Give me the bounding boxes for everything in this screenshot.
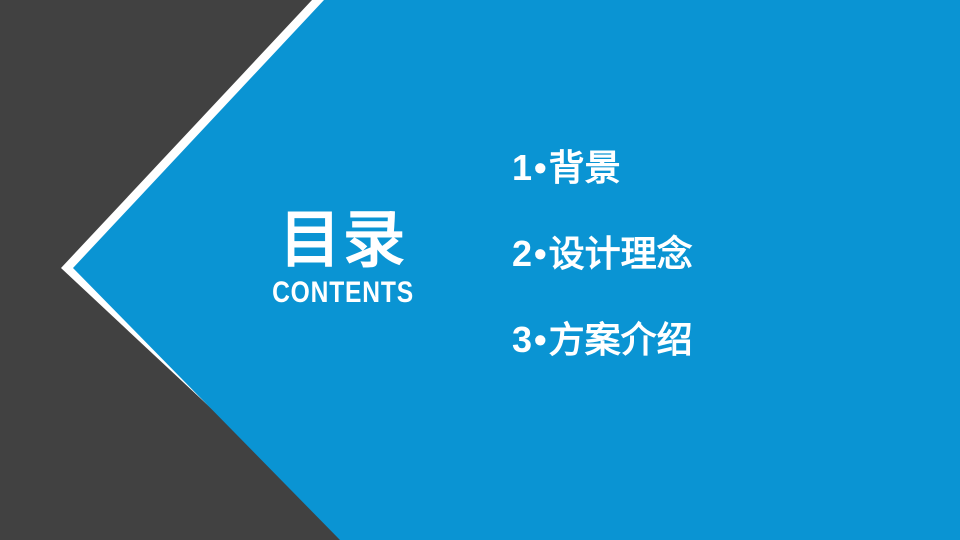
bullet-separator-icon: • bbox=[532, 150, 549, 186]
page-title-chinese: 目录 bbox=[228, 210, 458, 272]
list-item-index: 3 bbox=[512, 322, 532, 358]
list-item-label: 方案介绍 bbox=[549, 322, 693, 358]
list-item-label: 背景 bbox=[549, 150, 621, 186]
list-item-label: 设计理念 bbox=[549, 236, 693, 272]
presentation-slide: 目录 CONTENTS 1 • 背景 2 • 设计理念 3 • 方案介绍 bbox=[0, 0, 960, 540]
list-item[interactable]: 3 • 方案介绍 bbox=[512, 322, 912, 358]
page-title-english: CONTENTS bbox=[249, 278, 438, 308]
list-item-index: 1 bbox=[512, 150, 532, 186]
bullet-separator-icon: • bbox=[532, 322, 549, 358]
bullet-separator-icon: • bbox=[532, 236, 549, 272]
list-item[interactable]: 2 • 设计理念 bbox=[512, 236, 912, 272]
toc-menu-list: 1 • 背景 2 • 设计理念 3 • 方案介绍 bbox=[512, 150, 912, 358]
list-item-index: 2 bbox=[512, 236, 532, 272]
list-item[interactable]: 1 • 背景 bbox=[512, 150, 912, 186]
toc-title-block: 目录 CONTENTS bbox=[228, 210, 458, 308]
